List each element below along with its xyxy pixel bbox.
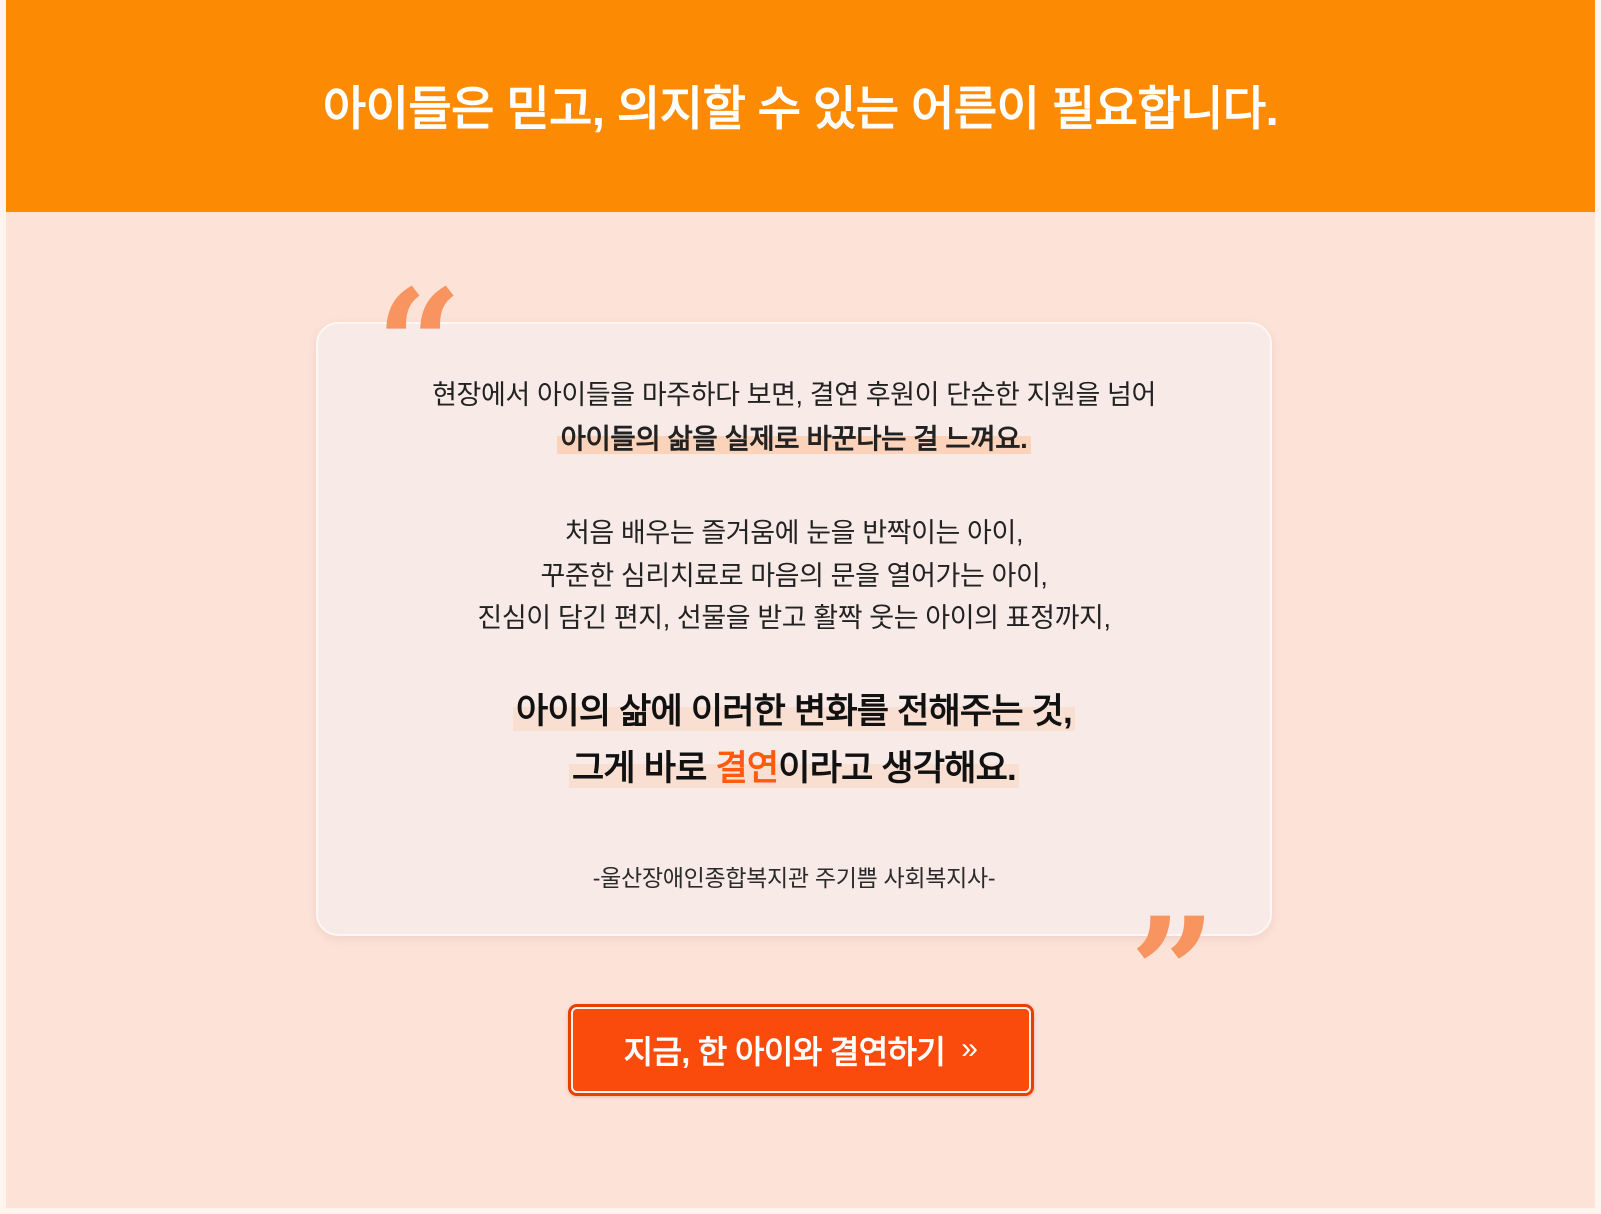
page-title: 아이들은 믿고, 의지할 수 있는 어른이 필요합니다.	[323, 81, 1278, 137]
testimonial-line-2-highlight: 아이들의 삶을 실제로 바꾼다는 걸 느껴요.	[557, 423, 1032, 454]
cta-container: 지금, 한 아이와 결연하기 »	[6, 1004, 1595, 1096]
testimonial-closing-line-2: 그게 바로 결연이라고 생각해요.	[316, 741, 1272, 798]
testimonial-line-5: 진심이 담긴 편지, 선물을 받고 활짝 웃는 아이의 표정까지,	[316, 597, 1272, 640]
testimonial-card-wrapper: “ ” 현장에서 아이들을 마주하다 보면, 결연 후원이 단순한 지원을 넘어…	[316, 322, 1272, 936]
spacer-1	[316, 460, 1272, 512]
closing-prefix: 그게 바로	[572, 749, 715, 788]
closing-accent-word: 결연	[715, 749, 778, 788]
promo-page: 아이들은 믿고, 의지할 수 있는 어른이 필요합니다. “ ” 현장에서 아이…	[0, 0, 1601, 1214]
testimonial-closing-line-1: 아이의 삶에 이러한 변화를 전해주는 것,	[316, 684, 1272, 741]
testimonial-attribution: -울산장애인종합복지관 주기쁨 사회복지사-	[316, 859, 1272, 893]
sponsor-child-button[interactable]: 지금, 한 아이와 결연하기 »	[568, 1004, 1034, 1096]
testimonial-closing-line-1-highlight: 아이의 삶에 이러한 변화를 전해주는 것,	[513, 692, 1075, 731]
testimonial-line-1: 현장에서 아이들을 마주하다 보면, 결연 후원이 단순한 지원을 넘어	[316, 374, 1272, 417]
chevron-right-double-icon: »	[961, 1034, 977, 1064]
testimonial-closing-line-2-highlight: 그게 바로 결연이라고 생각해요.	[569, 749, 1019, 788]
testimonial-line-3: 처음 배우는 즐거움에 눈을 반짝이는 아이,	[316, 512, 1272, 555]
testimonial-line-2: 아이들의 삶을 실제로 바꾼다는 걸 느껴요.	[316, 417, 1272, 460]
spacer-2	[316, 640, 1272, 684]
cta-label: 지금, 한 아이와 결연하기	[624, 1027, 946, 1073]
testimonial-body: 현장에서 아이들을 마주하다 보면, 결연 후원이 단순한 지원을 넘어 아이들…	[316, 374, 1272, 893]
closing-suffix: 이라고 생각해요.	[778, 749, 1016, 788]
testimonial-line-4: 꾸준한 심리치료로 마음의 문을 열어가는 아이,	[316, 555, 1272, 598]
header-banner: 아이들은 믿고, 의지할 수 있는 어른이 필요합니다.	[0, 0, 1601, 212]
